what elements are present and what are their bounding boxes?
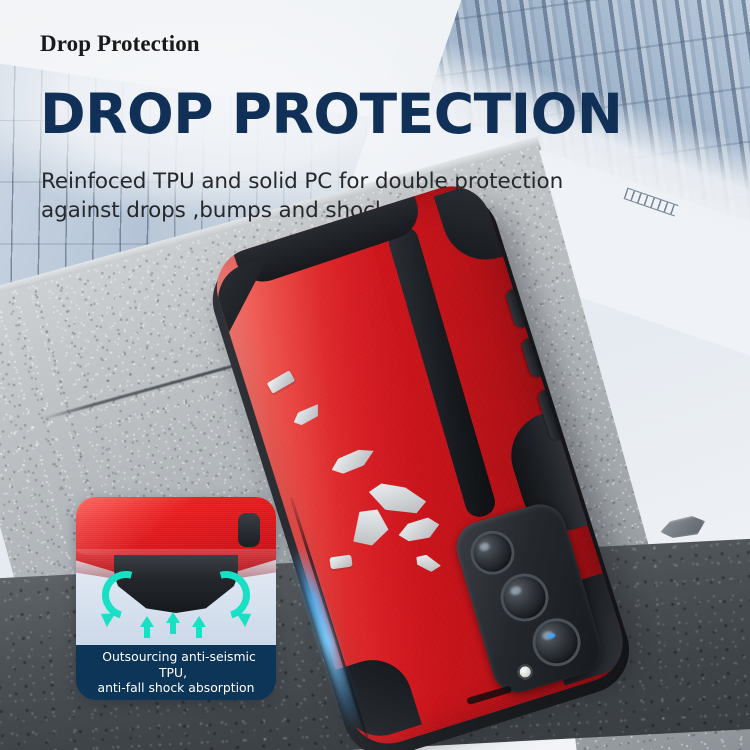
feature-callout-card: Outsourcing anti-seismic TPU, anti-fall … [76, 497, 276, 700]
camera-lens-1 [465, 525, 520, 580]
camera-flash [516, 663, 535, 682]
subtitle-text: Reinfoced TPU and solid PC for double pr… [41, 168, 563, 225]
subtitle-line-1: Reinfoced TPU and solid PC for double pr… [41, 168, 563, 197]
product-marketing-banner: Drop Protection DROP PROTECTION Reinfoce… [0, 0, 750, 750]
callout-illustration [76, 497, 276, 645]
shock-arrow-up-2 [166, 612, 180, 623]
subtitle-line-2: against drops ,bumps and shock [41, 197, 563, 226]
eyebrow-title: Drop Protection [40, 31, 200, 57]
callout-caption-line-1: Outsourcing anti-seismic TPU, [96, 649, 256, 680]
callout-caption-text: Outsourcing anti-seismic TPU, anti-fall … [76, 649, 276, 697]
camera-lens-2 [495, 568, 555, 628]
shock-arrow-up-3 [192, 616, 206, 627]
camera-lens-3 [527, 612, 587, 672]
page-title: DROP PROTECTION [40, 87, 622, 142]
callout-button-notch [238, 513, 260, 547]
shock-arrow-up-1 [140, 616, 154, 627]
callout-caption-line-2: anti-fall shock absorption [91, 680, 260, 695]
callout-caption-bar: Outsourcing anti-seismic TPU, anti-fall … [76, 645, 276, 700]
callout-case-highlight [76, 497, 190, 555]
